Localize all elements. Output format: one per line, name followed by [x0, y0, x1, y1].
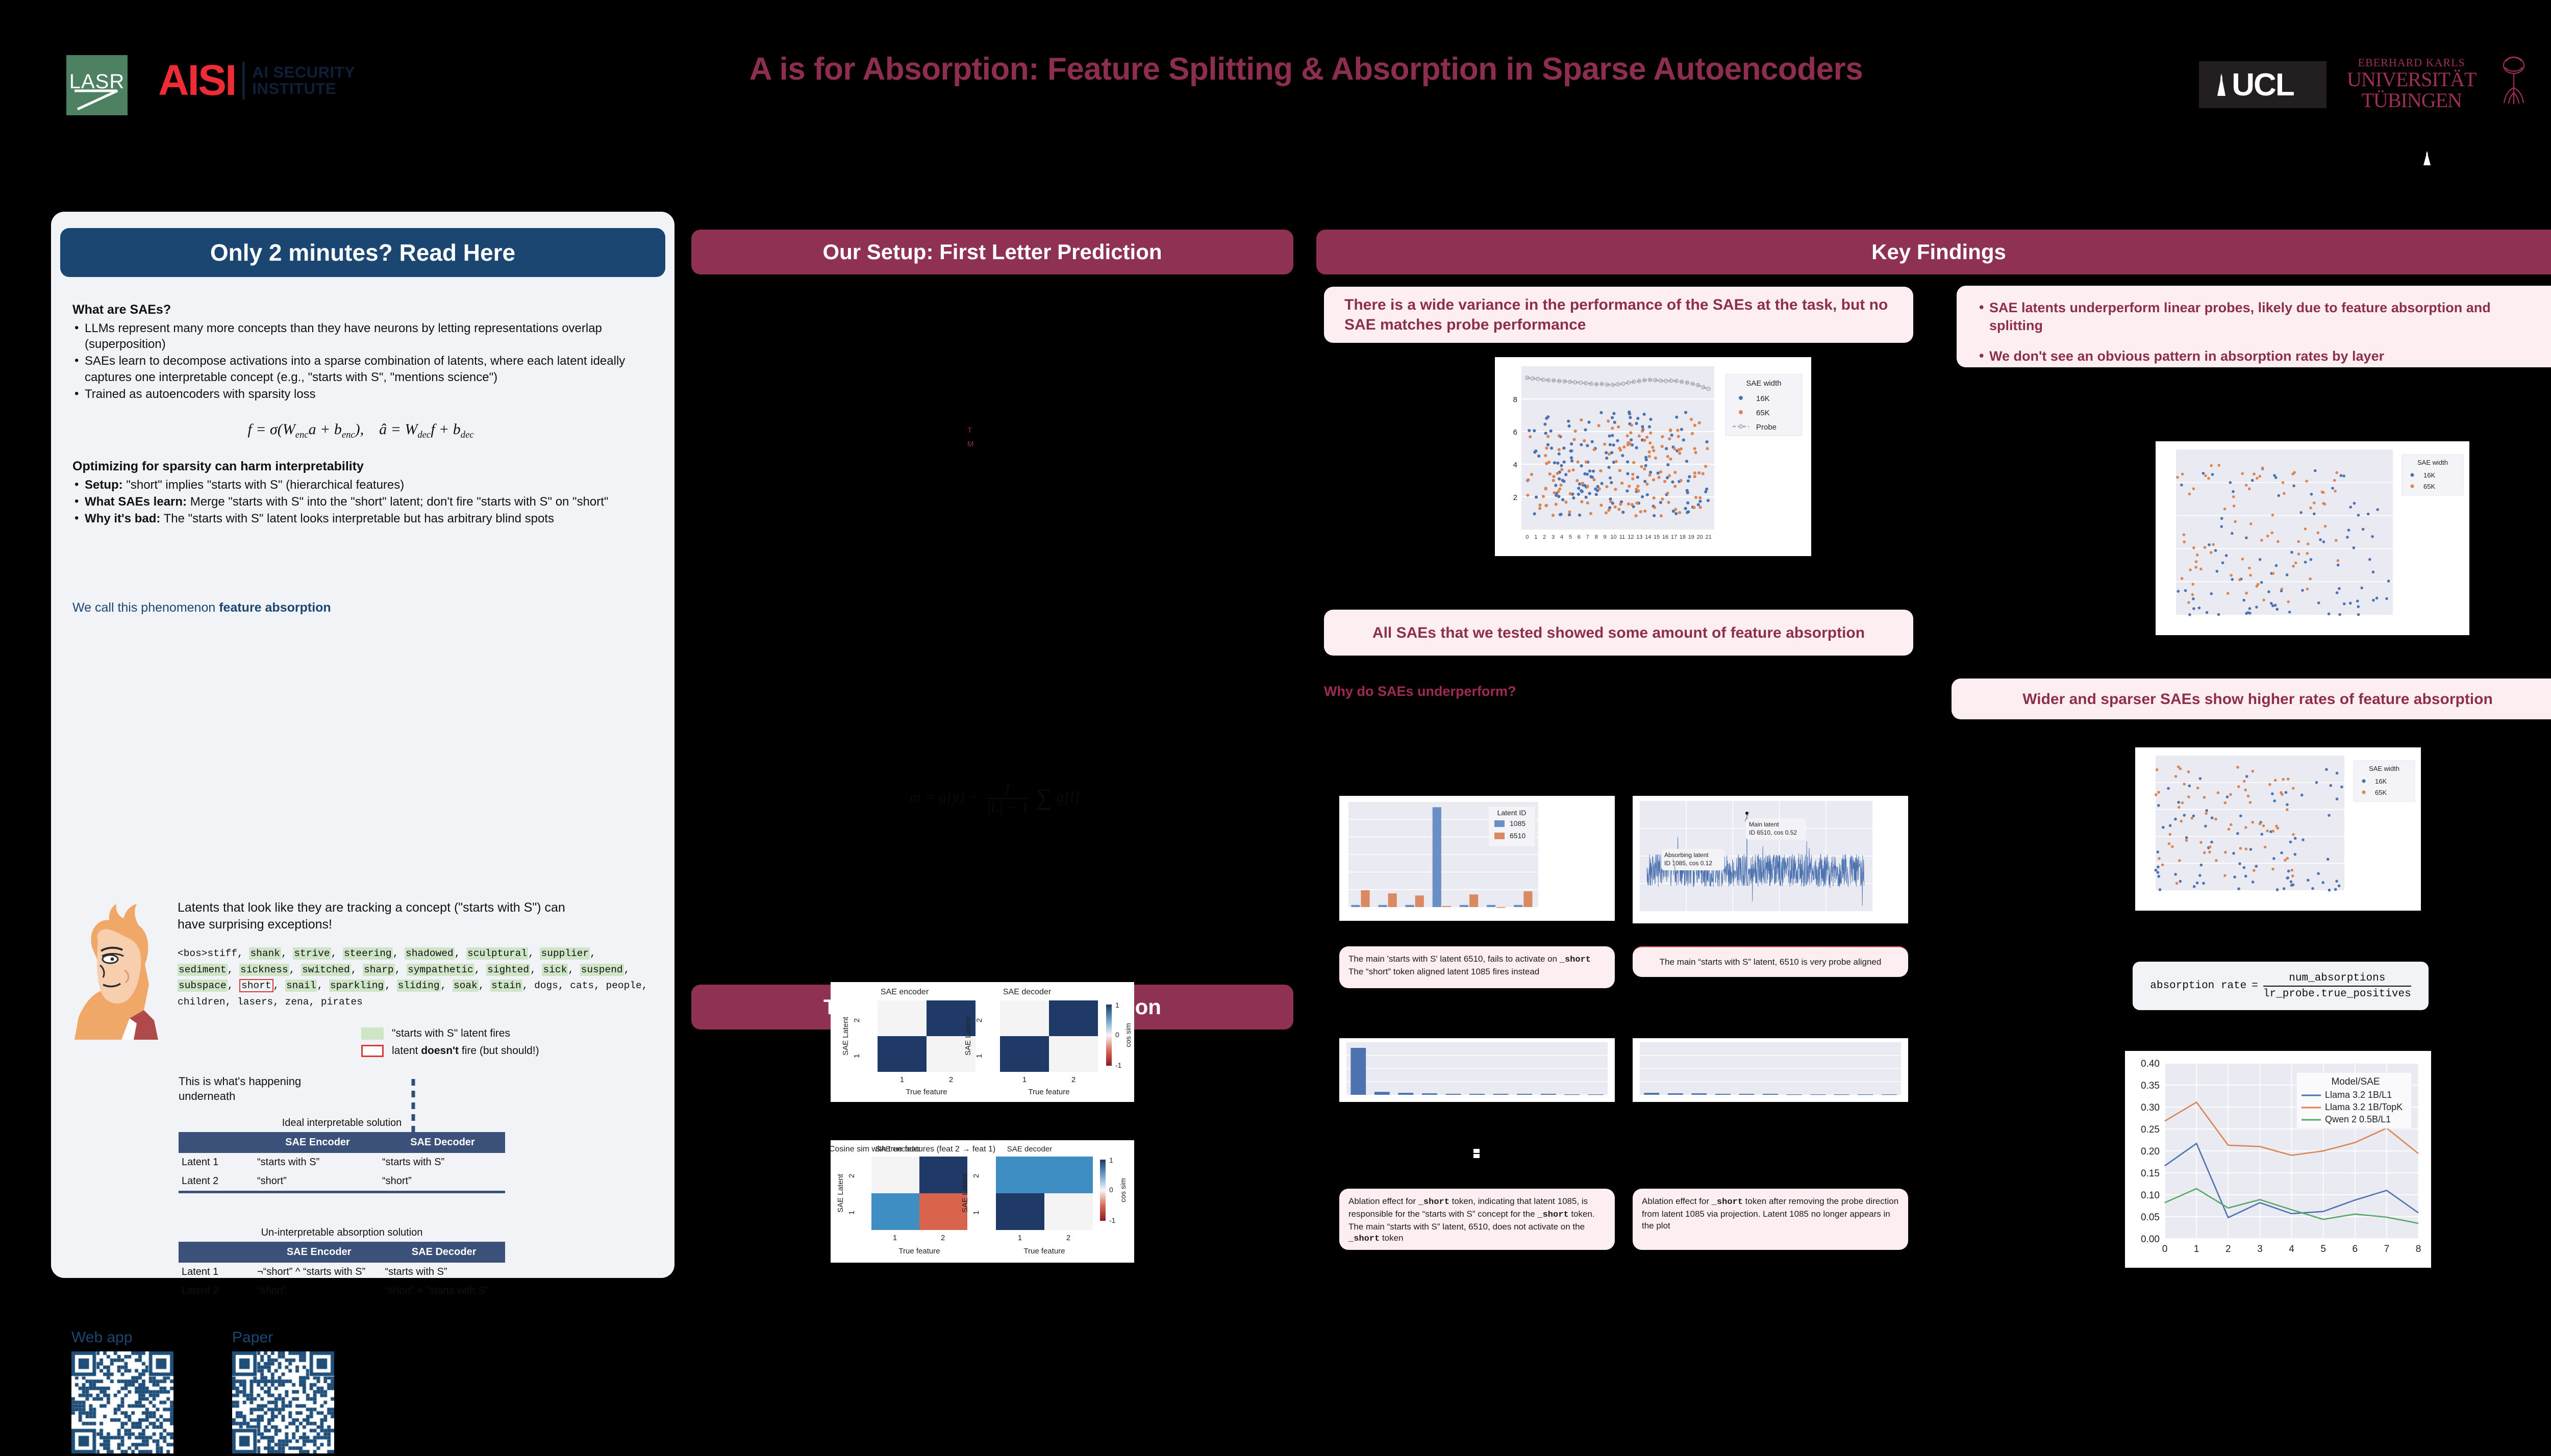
callout-term: feature absorption	[219, 600, 331, 615]
svg-text:2: 2	[1513, 493, 1517, 502]
svg-text:SAE encoder: SAE encoder	[876, 1145, 920, 1153]
token: short	[239, 979, 273, 992]
svg-text:8: 8	[1595, 534, 1598, 540]
svg-text:2: 2	[972, 1174, 981, 1178]
toy-model-ideal-chart: SAE encoder SAE decoder 2 1 SAE Latent 1…	[831, 982, 1134, 1102]
svg-text:4: 4	[1513, 461, 1517, 469]
formula-numerator: num_absorptions	[2263, 972, 2411, 987]
svg-text:Latent ID: Latent ID	[1497, 809, 1527, 817]
column-header: SAE Encoder	[255, 1242, 383, 1263]
layer-absorption-chart: SAE width16K65K	[2156, 441, 2469, 635]
token: soak	[453, 980, 479, 992]
token: lasers	[237, 996, 273, 1008]
token: sighted	[486, 964, 530, 976]
svg-text:SAE width: SAE width	[2369, 765, 2399, 772]
token: suspend	[580, 964, 624, 976]
svg-text:3: 3	[1552, 534, 1555, 540]
key-findings-banner: Key Findings	[1316, 230, 2551, 274]
table-row: Latent 2 “short” “short”	[179, 1172, 505, 1191]
svg-text:7: 7	[2384, 1244, 2390, 1254]
svg-text:6: 6	[2352, 1244, 2358, 1254]
column-header: SAE Encoder	[255, 1132, 380, 1153]
list-item: Why it's bad: The "starts with S" latent…	[72, 511, 649, 526]
svg-text:Absorbing latent: Absorbing latent	[1664, 851, 1709, 859]
svg-text:Qwen 2 0.5B/L1: Qwen 2 0.5B/L1	[2325, 1114, 2391, 1124]
svg-text:SAE width: SAE width	[1746, 379, 1781, 388]
svg-text:0.35: 0.35	[2141, 1081, 2160, 1091]
svg-text:SAE Latent: SAE Latent	[836, 1173, 845, 1213]
token: sick	[542, 964, 568, 976]
finding-wider-sparser-text: Wider and sparser SAEs show higher rates…	[2022, 689, 2493, 709]
bullet-rest: "short" implies "starts with S" (hierarc…	[123, 478, 405, 492]
table-header-row: SAE Encoder SAE Decoder	[179, 1242, 505, 1263]
absorption-rate-formula: absorption rate = num_absorptions lr_pro…	[2133, 962, 2429, 1010]
tubingen-tree-icon	[2500, 55, 2528, 106]
list-item: SAEs learn to decompose activations into…	[72, 353, 649, 385]
svg-text:9: 9	[1604, 534, 1607, 540]
svg-text:True feature: True feature	[1023, 1247, 1065, 1256]
absorption-by-layer-chart: 0.000.050.100.150.200.250.300.350.400123…	[2125, 1051, 2431, 1268]
svg-text:SAE Latent: SAE Latent	[961, 1173, 969, 1213]
svg-text:21: 21	[1706, 534, 1712, 540]
cell-decoder: “short” + “starts with S”	[383, 1282, 505, 1300]
svg-text:1: 1	[1534, 534, 1537, 540]
ucl-logo: UCL	[2199, 61, 2327, 108]
probe-vs-sae-chart: 24680123456789101112131415161718192021SA…	[1495, 357, 1811, 556]
svg-text:SAE encoder: SAE encoder	[881, 988, 929, 996]
svg-text:8: 8	[2416, 1244, 2421, 1254]
svg-text:-1: -1	[1115, 1061, 1122, 1069]
bullet-rest: Merge "starts with S" into the "short" l…	[187, 495, 608, 509]
token: steering	[343, 947, 393, 960]
list-item: Setup: "short" implies "starts with S" (…	[72, 477, 649, 493]
svg-text:1085: 1085	[1510, 819, 1525, 827]
what-are-saes-heading: What are SAEs?	[72, 303, 649, 317]
ideal-solution-table-block: Ideal interpretable solution SAE Encoder…	[179, 1117, 505, 1193]
setup-banner: Our Setup: First Letter Prediction	[691, 230, 1293, 274]
token: sliding	[397, 980, 441, 992]
token: sculptural	[466, 947, 528, 960]
legend-row-nofire: latent doesn't fire (but should!)	[361, 1045, 662, 1057]
token: people	[606, 980, 642, 991]
svg-text:ID 6510, cos 0.52: ID 6510, cos 0.52	[1749, 829, 1797, 836]
bullet-lead: What SAEs learn:	[85, 495, 187, 509]
token: switched	[301, 964, 351, 976]
table-row: Latent 2 “short” “short” + “starts with …	[179, 1282, 505, 1300]
svg-text:20: 20	[1697, 534, 1703, 540]
svg-text:2: 2	[941, 1234, 945, 1242]
token: stiff	[208, 948, 238, 959]
column-header	[179, 1132, 255, 1153]
feature-absorption-callout: We call this phenomenon feature absorpti…	[72, 600, 331, 615]
qr-webapp-block[interactable]: Web app	[71, 1329, 173, 1456]
svg-text:SAE decoder: SAE decoder	[1007, 1145, 1052, 1153]
token: sparkling	[329, 980, 385, 992]
token: sediment	[178, 964, 228, 976]
ucl-dome-icon	[2217, 73, 2225, 96]
svg-text:19: 19	[1688, 534, 1694, 540]
qr-code-webapp[interactable]	[71, 1351, 173, 1453]
qr-code-paper[interactable]	[232, 1351, 334, 1453]
caption-cos-box: The main “starts with S” latent, 6510 is…	[1633, 946, 1908, 977]
svg-text:12: 12	[1628, 534, 1634, 540]
token: shadowed	[405, 947, 455, 960]
svg-text:11: 11	[1619, 534, 1625, 540]
finding-all-saes-text: All SAEs that we tested showed some amou…	[1372, 623, 1865, 643]
caption-ablation-2-box: Ablation effect for _short token after r…	[1633, 1189, 1908, 1250]
callout-prefix: We call this phenomenon	[72, 600, 219, 615]
svg-text:17: 17	[1671, 534, 1677, 540]
svg-text:0.30: 0.30	[2141, 1102, 2160, 1113]
svg-text:0.00: 0.00	[2141, 1234, 2160, 1245]
caption-cos-text: The main “starts with S” latent, 6510 is…	[1660, 957, 1882, 968]
table-header-row: SAE Encoder SAE Decoder	[179, 1132, 505, 1153]
svg-text:ID 1085, cos 0.12: ID 1085, cos 0.12	[1664, 860, 1712, 867]
svg-text:0: 0	[1115, 1031, 1119, 1039]
svg-text:6: 6	[1513, 428, 1517, 437]
legend-green-swatch	[361, 1027, 384, 1040]
table-title: Un-interpretable absorption solution	[179, 1227, 505, 1239]
token: subspace	[178, 980, 228, 992]
svg-text:1: 1	[1022, 1075, 1027, 1084]
sparsity-harm-bullets: Setup: "short" implies "starts with S" (…	[72, 477, 649, 527]
svg-text:0.20: 0.20	[2141, 1146, 2160, 1157]
token: shank	[249, 947, 281, 960]
svg-text:16: 16	[1662, 534, 1668, 540]
stray-label-t: T	[967, 426, 972, 435]
token: sympathetic	[407, 964, 474, 976]
table-bottom-rule	[179, 1191, 505, 1193]
page-title: A is for Absorption: Feature Splitting &…	[0, 51, 2551, 87]
left-panel-banner: Only 2 minutes? Read Here	[60, 228, 665, 277]
svg-text:1: 1	[972, 1211, 981, 1215]
finding-all-saes-box: All SAEs that we tested showed some amou…	[1324, 610, 1913, 656]
legend-red-swatch	[361, 1045, 384, 1057]
token: zena	[285, 996, 309, 1008]
svg-text:18: 18	[1680, 534, 1686, 540]
table-row: Latent 1 ¬“short” ^ “starts with S” “sta…	[179, 1263, 505, 1282]
svg-text:2: 2	[1071, 1075, 1076, 1084]
svg-text:Main latent: Main latent	[1749, 821, 1779, 828]
list-item: Trained as autoencoders with sparsity lo…	[72, 386, 649, 402]
list-item: What SAEs learn: Merge "starts with S" i…	[72, 494, 649, 510]
bullet-lead: Setup:	[85, 478, 123, 492]
cell-encoder: “short”	[255, 1172, 380, 1191]
fry-suspicious-icon	[72, 903, 174, 1041]
svg-text:0.10: 0.10	[2141, 1190, 2160, 1201]
token: children	[178, 996, 226, 1008]
svg-text:7: 7	[1586, 534, 1589, 540]
left-panel: Only 2 minutes? Read Here What are SAEs?…	[51, 212, 674, 1278]
svg-text:SAE width: SAE width	[2417, 459, 2448, 466]
svg-text:1: 1	[847, 1211, 856, 1215]
svg-text:0: 0	[1525, 534, 1529, 540]
svg-text:2: 2	[1543, 534, 1546, 540]
svg-text:3: 3	[2257, 1244, 2263, 1254]
legend-nofire-label: latent doesn't fire (but should!)	[392, 1045, 539, 1057]
svg-text:0: 0	[1109, 1186, 1113, 1194]
mean-ablation-formula: m = g[y] − 1 |L| − 1 ∑ g[l]	[842, 781, 1148, 816]
svg-text:14: 14	[1645, 534, 1651, 540]
tubingen-line-1: EBERHARD KARLS	[2347, 57, 2476, 69]
svg-text:True feature: True feature	[898, 1247, 940, 1256]
svg-text:5: 5	[1569, 534, 1572, 540]
svg-text:Llama 3.2 1B/L1: Llama 3.2 1B/L1	[2325, 1090, 2392, 1100]
token: pirates	[321, 996, 363, 1008]
legend-row-fires: "starts with S" latent fires	[361, 1027, 662, 1040]
qr-paper-block[interactable]: Paper	[232, 1329, 334, 1456]
finding-variance-box: There is a wide variance in the performa…	[1324, 287, 1913, 343]
key-findings-bullets-box: SAE latents underperform linear probes, …	[1957, 286, 2551, 367]
svg-text:1: 1	[900, 1075, 904, 1084]
svg-text:0.40: 0.40	[2141, 1059, 2160, 1069]
cell-decoder: “starts with S”	[383, 1263, 505, 1282]
ablation-chart-2	[1633, 1038, 1908, 1102]
svg-text:2: 2	[853, 1018, 861, 1022]
qr-webapp-label: Web app	[71, 1329, 173, 1346]
svg-text:10: 10	[1610, 534, 1616, 540]
cell-decoder: “short”	[380, 1172, 505, 1191]
svg-text:15: 15	[1654, 534, 1660, 540]
svg-text:0.15: 0.15	[2141, 1168, 2160, 1179]
tubingen-logo: EBERHARD KARLS UNIVERSITÄT TÜBINGEN	[2347, 57, 2476, 111]
svg-text:4: 4	[1560, 534, 1563, 540]
row-label: Latent 1	[179, 1153, 255, 1172]
column-header: SAE Decoder	[383, 1242, 505, 1263]
token: sickness	[239, 964, 289, 976]
svg-text:cos sim: cos sim	[1119, 1178, 1127, 1202]
sae-equation: f = σ(Wenca + benc), â = Wdecf + bdec	[72, 421, 649, 441]
svg-text:True feature: True feature	[906, 1088, 947, 1096]
ucl-dome-small-icon	[2423, 151, 2431, 165]
svg-text:SAE Latent: SAE Latent	[964, 1016, 972, 1056]
ablation-chart-1	[1339, 1038, 1615, 1102]
svg-text:16K: 16K	[2423, 471, 2435, 479]
svg-text:2: 2	[1066, 1234, 1070, 1242]
svg-text:65K: 65K	[1756, 409, 1770, 417]
lasr-slash-icon	[73, 89, 120, 111]
svg-text:2: 2	[2225, 1244, 2231, 1254]
fry-caption: Latents that look like they are tracking…	[178, 899, 565, 933]
svg-text:True feature: True feature	[1028, 1088, 1069, 1096]
finding-wider-sparser-box: Wider and sparser SAEs show higher rates…	[1952, 679, 2551, 719]
absorption-solution-table-block: Un-interpretable absorption solution SAE…	[179, 1227, 505, 1300]
bullet-lead: Why it's bad:	[85, 512, 160, 525]
svg-text:16K: 16K	[2375, 777, 2387, 785]
svg-text:65K: 65K	[2423, 483, 2435, 490]
tubingen-line-2: UNIVERSITÄT	[2347, 69, 2476, 90]
cosine-spectrum-chart: Absorbing latentID 1085, cos 0.12Main la…	[1633, 796, 1908, 923]
cell-encoder: “short”	[255, 1282, 383, 1300]
list-item: SAE latents underperform linear probes, …	[1977, 299, 2541, 334]
svg-text:2: 2	[847, 1174, 856, 1178]
column-header: SAE Decoder	[380, 1132, 505, 1153]
tubingen-line-3: TÜBINGEN	[2347, 90, 2476, 111]
svg-text:1: 1	[1109, 1156, 1113, 1164]
ideal-solution-table: SAE Encoder SAE Decoder Latent 1 “starts…	[179, 1132, 505, 1191]
svg-text:Probe: Probe	[1756, 423, 1777, 432]
sparsity-harm-heading: Optimizing for sparsity can harm interpr…	[72, 459, 649, 474]
list-item: LLMs represent many more concepts than t…	[72, 320, 649, 352]
column-header	[179, 1242, 255, 1263]
ucl-logo-text: UCL	[2232, 67, 2293, 103]
svg-text:-1: -1	[1109, 1216, 1116, 1224]
svg-text:1: 1	[1018, 1234, 1022, 1242]
svg-text:13: 13	[1636, 534, 1642, 540]
small-marker-icon	[1472, 1148, 1481, 1159]
token: cats	[570, 980, 594, 991]
token-example-block: Latents that look like they are tracking…	[178, 899, 662, 1057]
svg-text:0: 0	[2162, 1244, 2168, 1254]
absorption-solution-table: SAE Encoder SAE Decoder Latent 1 ¬“short…	[179, 1242, 505, 1300]
token: snail	[285, 980, 317, 992]
svg-text:Model/SAE: Model/SAE	[2331, 1076, 2380, 1087]
formula-denominator: lr_probe.true_positives	[2263, 987, 2411, 1000]
svg-text:2: 2	[975, 1018, 984, 1022]
token-stream: <bos>stiff, shank, strive, steering, sha…	[178, 946, 652, 1010]
table-title: Ideal interpretable solution	[179, 1117, 505, 1129]
svg-text:1: 1	[893, 1234, 897, 1242]
formula-lhs: absorption rate	[2150, 980, 2246, 992]
svg-text:6: 6	[1578, 534, 1581, 540]
token: dogs	[534, 980, 558, 991]
caption-ablation-1-box: Ablation effect for _short token, indica…	[1339, 1189, 1615, 1250]
svg-text:1: 1	[2194, 1244, 2199, 1254]
row-label: Latent 2	[179, 1282, 255, 1300]
svg-text:8: 8	[1513, 395, 1517, 404]
svg-text:4: 4	[2289, 1244, 2294, 1254]
stray-label-m: M	[967, 440, 974, 448]
poster-header: LASR AISI AI SECURITY INSTITUTE A is for…	[0, 0, 2551, 133]
svg-text:Llama 3.2 1B/TopK: Llama 3.2 1B/TopK	[2325, 1102, 2403, 1112]
svg-text:65K: 65K	[2375, 789, 2387, 796]
list-item: We don't see an obvious pattern in absor…	[1977, 347, 2541, 365]
key-findings-bullets: SAE latents underperform linear probes, …	[1977, 299, 2541, 365]
svg-text:6510: 6510	[1510, 832, 1525, 840]
table-row: Latent 1 “starts with S” “starts with S”	[179, 1153, 505, 1172]
token: stain	[490, 980, 522, 992]
qr-paper-label: Paper	[232, 1329, 334, 1346]
toy-model-absorption-chart: Cosine sim with true features (feat 2 → …	[831, 1140, 1134, 1263]
underneath-note: This is what's happening underneath	[179, 1074, 321, 1104]
caption-ablation-1-text: Ablation effect for _short token, indica…	[1348, 1196, 1606, 1245]
svg-text:2: 2	[949, 1075, 953, 1084]
caption-bar-text: The main 'starts with S' latent 6510, fa…	[1348, 953, 1606, 978]
cell-decoder: “starts with S”	[380, 1153, 505, 1172]
svg-text:cos sim: cos sim	[1124, 1023, 1132, 1047]
svg-text:1: 1	[1115, 1001, 1119, 1009]
finding-variance-text: There is a wide variance in the performa…	[1344, 295, 1893, 335]
svg-text:0.25: 0.25	[2141, 1124, 2160, 1135]
cell-encoder: “starts with S”	[255, 1153, 380, 1172]
caption-bar-box: The main 'starts with S' latent 6510, fa…	[1339, 946, 1615, 988]
latent-activation-chart: Latent ID10856510	[1339, 796, 1615, 921]
token: supplier	[540, 947, 590, 960]
what-are-saes-bullets: LLMs represent many more concepts than t…	[72, 320, 649, 402]
bullet-rest: The "starts with S" latent looks interpr…	[160, 512, 554, 525]
why-underperform-heading: Why do SAEs underperform?	[1324, 684, 1516, 699]
cell-encoder: ¬“short” ^ “starts with S”	[255, 1263, 383, 1282]
row-label: Latent 1	[179, 1263, 255, 1282]
svg-text:0.05: 0.05	[2141, 1212, 2160, 1223]
svg-text:SAE Latent: SAE Latent	[841, 1016, 850, 1056]
sparsity-absorption-chart: SAE width16K65K	[2135, 747, 2421, 911]
token: strive	[293, 947, 331, 960]
svg-text:1: 1	[975, 1054, 984, 1058]
svg-text:1: 1	[853, 1054, 861, 1058]
row-label: Latent 2	[179, 1172, 255, 1191]
token: sharp	[363, 964, 395, 976]
svg-text:16K: 16K	[1756, 394, 1770, 403]
caption-ablation-2-text: Ablation effect for _short token after r…	[1642, 1196, 1899, 1232]
legend-fires-label: "starts with S" latent fires	[392, 1027, 510, 1040]
svg-text:SAE decoder: SAE decoder	[1003, 988, 1052, 996]
svg-text:5: 5	[2320, 1244, 2326, 1254]
